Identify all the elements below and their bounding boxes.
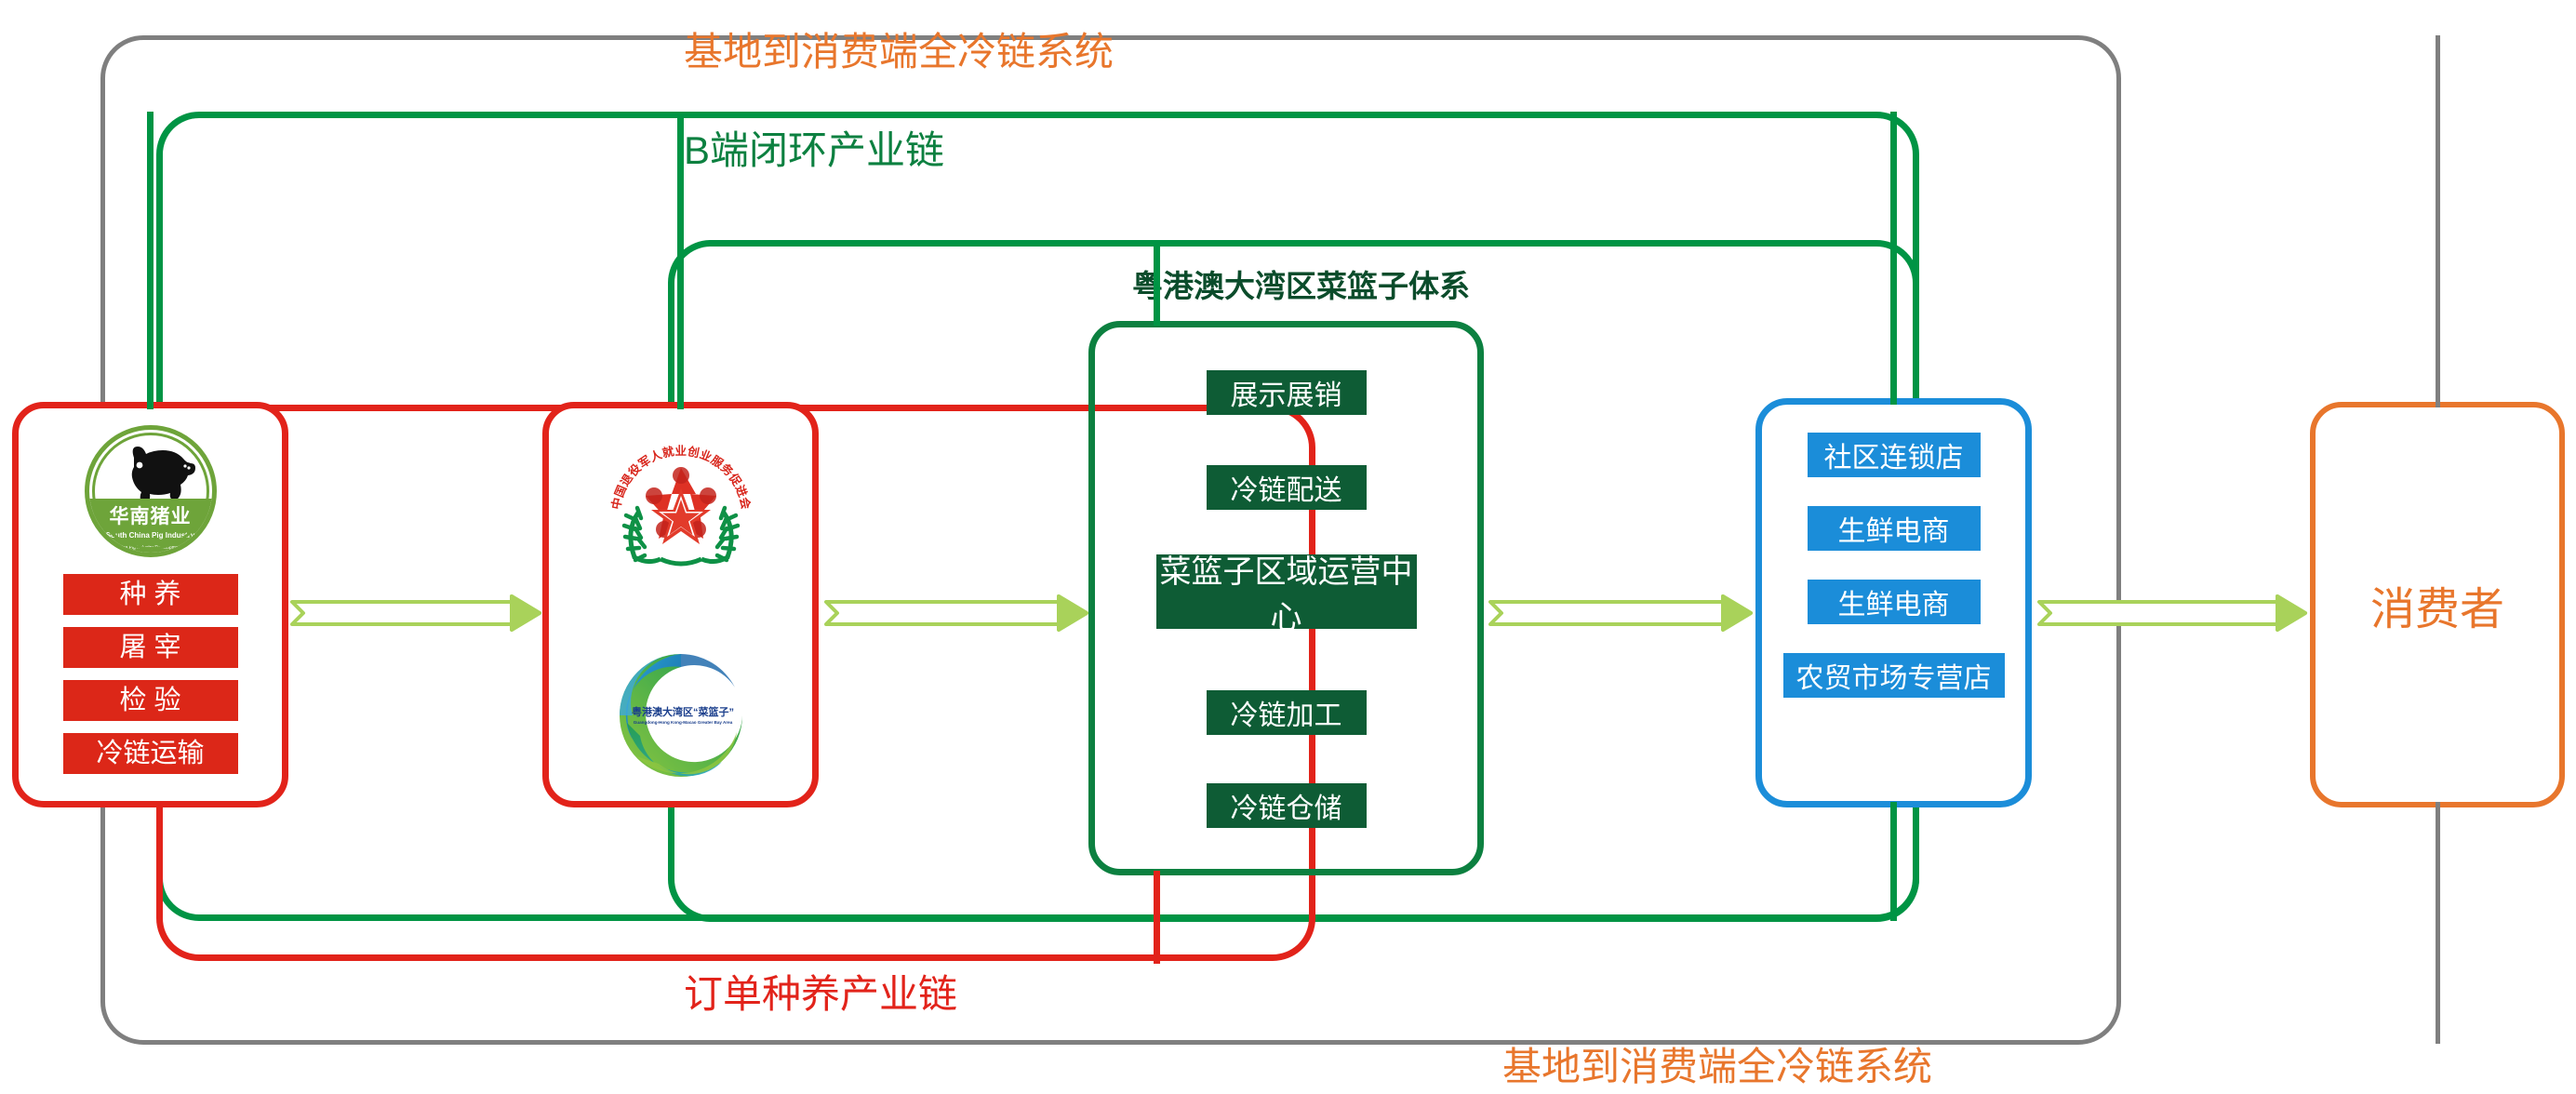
label-b-end-chain: B端闭环产业链 xyxy=(684,119,944,176)
service-cold-chain-delivery[interactable]: 冷链配送 xyxy=(1207,465,1367,510)
stage-consumer-card[interactable]: 消费者 xyxy=(2310,402,2565,807)
consumer-label: 消费者 xyxy=(2370,572,2504,637)
production-step-cold-chain-transport[interactable]: 冷链运输 xyxy=(63,733,238,774)
production-step-farming[interactable]: 种 养 xyxy=(63,574,238,615)
svg-text:Guangdong-Hong Kong-Macao Grea: Guangdong-Hong Kong-Macao Greater Bay Ar… xyxy=(633,720,732,725)
arrow-certification-to-bay-area xyxy=(824,594,1090,633)
production-step-slaughter[interactable]: 屠 宰 xyxy=(63,627,238,668)
connector-green-left xyxy=(147,112,153,409)
stage-production-card[interactable]: 华南猪业 South China Pig Industry South Chin… xyxy=(12,402,288,807)
service-exhibition-sales[interactable]: 展示展销 xyxy=(1207,370,1367,415)
svg-text:粤港澳大湾区“菜篮子”: 粤港澳大湾区“菜篮子” xyxy=(632,705,734,718)
stage-certification-card[interactable]: 中国退役军人就业创业服务促进会 xyxy=(542,402,819,807)
south-china-pig-logo: 华南猪业 South China Pig Industry South Chin… xyxy=(85,425,217,557)
retail-channel-fresh-ecommerce-2[interactable]: 生鲜电商 xyxy=(1808,580,1981,624)
connector-green-retail-top xyxy=(1890,112,1897,405)
connector-gray-consumer-bottom xyxy=(2436,802,2440,1044)
connector-gray-consumer-top xyxy=(2436,35,2440,407)
connector-green-retail-bottom xyxy=(1890,802,1897,921)
service-regional-operation-center[interactable]: 菜篮子区域运营中心 xyxy=(1156,554,1417,629)
connector-green-cert xyxy=(677,112,684,409)
connector-green-bay-top xyxy=(1154,240,1160,326)
bay-area-service-box[interactable]: 展示展销 冷链配送 菜篮子区域运营中心 冷链加工 冷链仓储 xyxy=(1088,321,1484,875)
connector-red-bay-bottom xyxy=(1154,871,1160,964)
arrow-retail-to-consumer xyxy=(2037,594,2309,633)
logo-ring-inner xyxy=(92,433,209,550)
arrow-bay-area-to-retail xyxy=(1488,594,1755,633)
production-step-inspection[interactable]: 检 验 xyxy=(63,680,238,721)
title-top-cold-chain: 基地到消费端全冷链系统 xyxy=(684,20,1114,77)
bay-area-vegetable-basket-emblem-icon: 粤港澳大湾区“菜篮子” Guangdong-Hong Kong-Macao Gr… xyxy=(612,647,750,784)
stage-retail-card[interactable]: 社区连锁店 生鲜电商 生鲜电商 农贸市场专营店 xyxy=(1755,398,2032,807)
retail-channel-farmers-market-store[interactable]: 农贸市场专营店 xyxy=(1783,653,2005,698)
service-cold-chain-storage[interactable]: 冷链仓储 xyxy=(1207,783,1367,828)
veterans-association-emblem-icon: 中国退役军人就业创业服务促进会 xyxy=(603,427,759,583)
label-bay-area-system: 粤港澳大湾区菜篮子体系 xyxy=(1132,261,1470,306)
service-cold-chain-processing[interactable]: 冷链加工 xyxy=(1207,690,1367,735)
diagram-canvas: 基地到消费端全冷链系统 B端闭环产业链 粤港澳大湾区菜篮子体系 订单种养产业链 … xyxy=(0,0,2576,1094)
arrow-production-to-certification xyxy=(290,594,543,633)
title-bottom-cold-chain: 基地到消费端全冷链系统 xyxy=(1502,1035,1932,1092)
retail-channel-fresh-ecommerce-1[interactable]: 生鲜电商 xyxy=(1808,506,1981,551)
production-step-list: 种 养 屠 宰 检 验 冷链运输 xyxy=(19,574,282,786)
retail-channel-community-chain-store[interactable]: 社区连锁店 xyxy=(1808,433,1981,477)
label-order-farming-chain: 订单种养产业链 xyxy=(684,963,957,1020)
